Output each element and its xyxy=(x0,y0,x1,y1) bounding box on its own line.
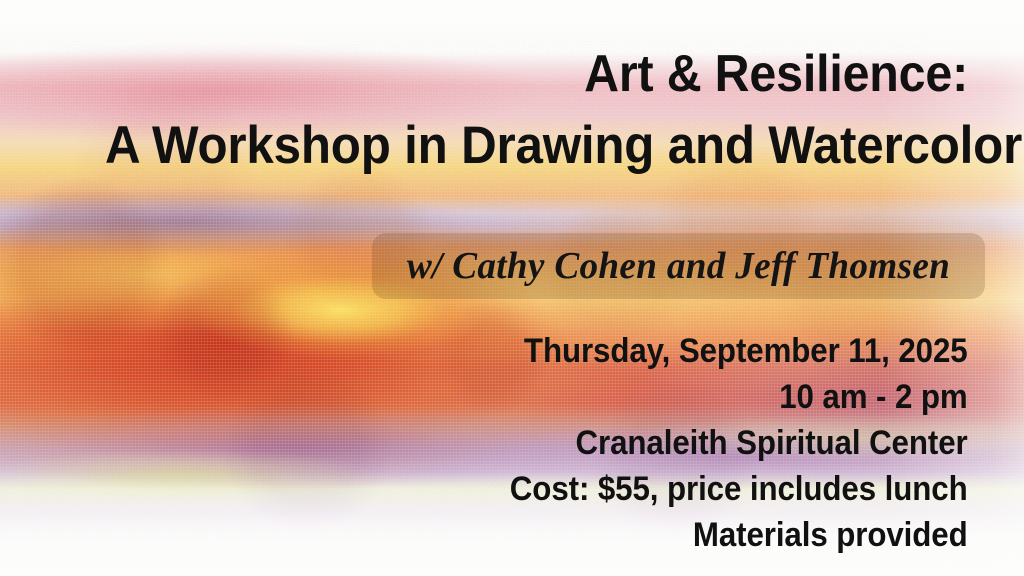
event-details-block: Thursday, September 11, 2025 10 am - 2 p… xyxy=(470,328,968,558)
detail-time: 10 am - 2 pm xyxy=(510,374,968,420)
flyer-content: Art & Resilience: A Workshop in Drawing … xyxy=(0,0,1024,576)
title-line-2: A Workshop in Drawing and Watercolor xyxy=(105,116,968,176)
detail-materials: Materials provided xyxy=(510,512,968,558)
title-line-1: Art & Resilience: xyxy=(105,46,968,102)
title-block: Art & Resilience: A Workshop in Drawing … xyxy=(40,46,968,176)
detail-cost: Cost: $55, price includes lunch xyxy=(510,466,968,512)
presenter-names: w/ Cathy Cohen and Jeff Thomsen xyxy=(378,233,979,299)
detail-date: Thursday, September 11, 2025 xyxy=(510,328,968,374)
detail-venue: Cranaleith Spiritual Center xyxy=(510,420,968,466)
workshop-flyer: Art & Resilience: A Workshop in Drawing … xyxy=(0,0,1024,576)
